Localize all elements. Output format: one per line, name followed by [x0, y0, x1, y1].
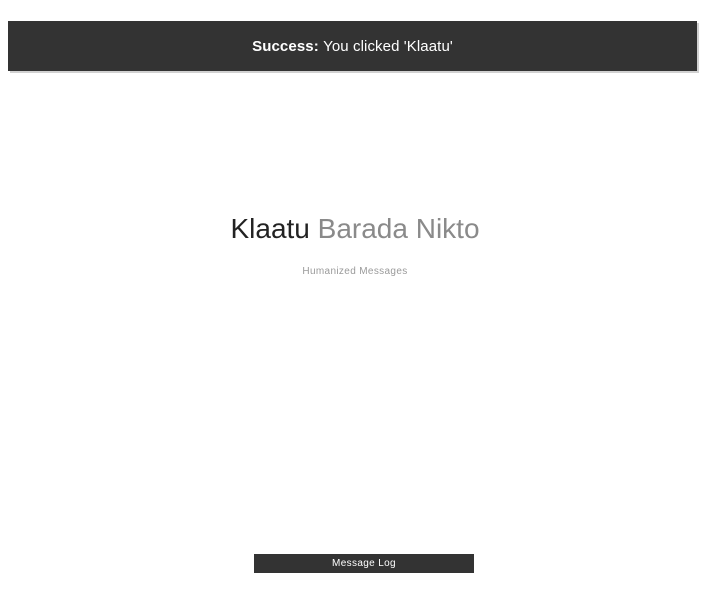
page-title-primary: Klaatu: [230, 213, 309, 244]
page-title: Klaatu Barada Nikto: [0, 212, 710, 246]
page-title-secondary: Barada Nikto: [318, 213, 480, 244]
page-subtitle: Humanized Messages: [0, 265, 710, 279]
main-content: Klaatu Barada Nikto Humanized Messages M…: [0, 0, 710, 592]
message-log-button[interactable]: Message Log: [254, 554, 474, 573]
